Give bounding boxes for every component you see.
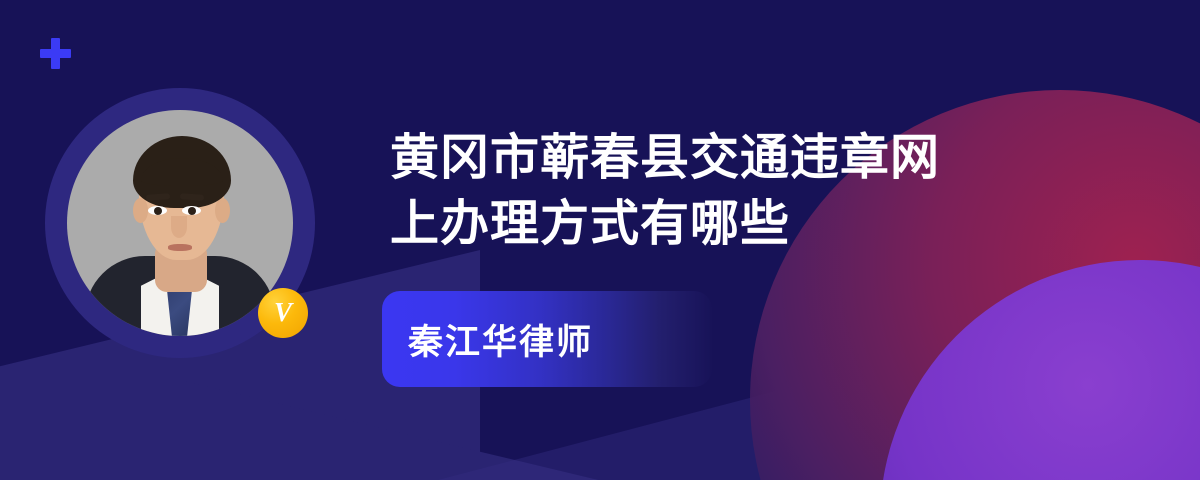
plus-icon-bar-vertical (51, 38, 60, 69)
portrait-ear-left (133, 198, 148, 223)
portrait-eye-right (182, 206, 201, 215)
verified-badge-label: V (274, 299, 292, 326)
portrait-mouth (168, 244, 192, 251)
page-title-line-1: 黄冈市蕲春县交通违章网 (390, 126, 1090, 192)
author-name-badge[interactable]: 秦江华律师 (382, 291, 712, 387)
portrait-eye-left (148, 206, 167, 215)
article-cover-banner: V 黄冈市蕲春县交通违章网 上办理方式有哪些 秦江华律师 (0, 0, 1200, 480)
portrait-ear-right (215, 198, 230, 223)
page-title-line-2: 上办理方式有哪些 (390, 192, 1090, 258)
verified-badge-icon: V (258, 288, 308, 338)
author-name-label: 秦江华律师 (382, 314, 593, 365)
avatar[interactable]: V (45, 88, 315, 358)
portrait-nose (171, 216, 187, 238)
page-title: 黄冈市蕲春县交通违章网 上办理方式有哪些 (390, 126, 1090, 257)
plus-icon (40, 38, 71, 69)
